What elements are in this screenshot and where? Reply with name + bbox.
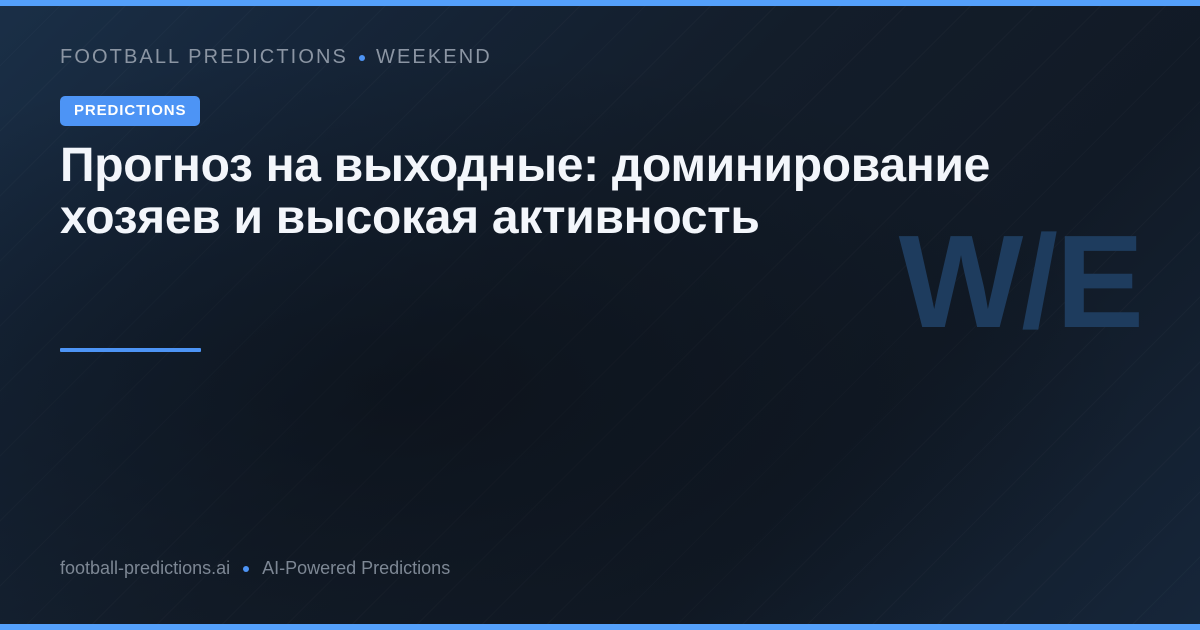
breadcrumb-category: FOOTBALL PREDICTIONS bbox=[60, 46, 348, 69]
bullet-dot-icon bbox=[243, 566, 249, 572]
page-title: Прогноз на выходные: доминирование хозяе… bbox=[60, 140, 1020, 244]
accent-divider bbox=[60, 348, 201, 352]
social-card: W/E FOOTBALL PREDICTIONS WEEKEND PREDICT… bbox=[0, 0, 1200, 630]
status-badge[interactable]: PREDICTIONS bbox=[60, 96, 200, 126]
breadcrumb: FOOTBALL PREDICTIONS WEEKEND bbox=[60, 46, 492, 69]
footer: football-predictions.ai AI-Powered Predi… bbox=[60, 558, 450, 579]
card-content: FOOTBALL PREDICTIONS WEEKEND PREDICTIONS… bbox=[60, 0, 1080, 630]
footer-tagline: AI-Powered Predictions bbox=[262, 558, 450, 579]
bullet-dot-icon bbox=[359, 55, 365, 61]
footer-site-link[interactable]: football-predictions.ai bbox=[60, 558, 230, 579]
breadcrumb-section: WEEKEND bbox=[376, 46, 492, 69]
